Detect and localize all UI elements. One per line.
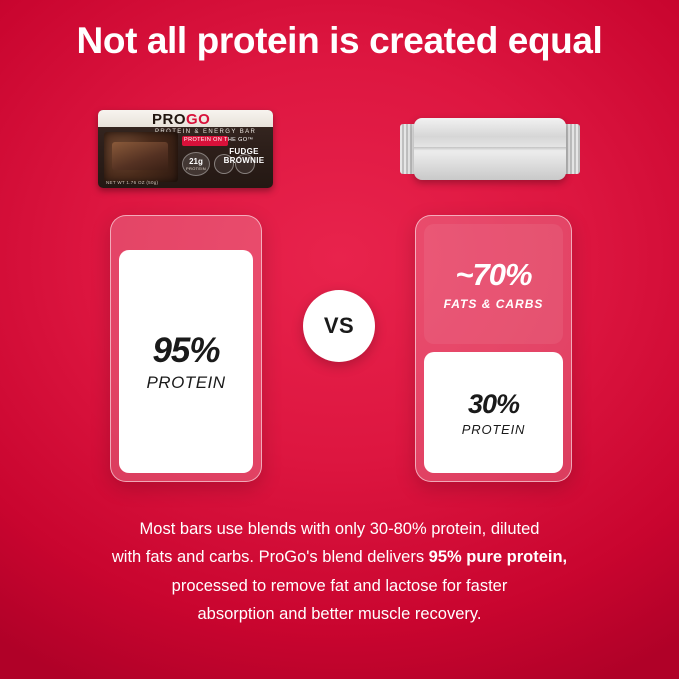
brand-pro: PRO: [152, 111, 186, 128]
protein-fill-bar: 95% PROTEIN: [119, 250, 253, 473]
other-fats-carbs-percent: ~70%: [455, 257, 531, 293]
page-title: Not all protein is created equal: [0, 20, 679, 63]
other-protein-percent: 30%: [468, 389, 519, 420]
comparison-card-other: ~70% FATS & CARBS 30% PROTEIN: [415, 215, 572, 482]
wrapper-seam: [414, 147, 566, 151]
comparison-card-progo: 95% PROTEIN: [110, 215, 262, 482]
bar-food-photo: [104, 132, 178, 182]
progo-protein-label: PROTEIN: [146, 373, 225, 393]
protein-amount-value: 21g: [183, 157, 209, 166]
bar-net-weight: NET WT 1.76 OZ (50g): [106, 180, 158, 185]
progo-bar-image: PROGO PROTEIN & ENERGY BAR PROTEIN ON TH…: [98, 110, 273, 188]
copy-line-2-bold: 95% pure protein,: [429, 548, 567, 566]
copy-line-1: Most bars use blends with only 30-80% pr…: [140, 520, 540, 538]
generic-bar-image: [400, 110, 580, 190]
copy-line-2-pre: with fats and carbs. ProGo's blend deliv…: [112, 548, 429, 566]
protein-amount-badge: 21g PROTEIN: [182, 152, 210, 176]
bar-body: PROGO PROTEIN & ENERGY BAR PROTEIN ON TH…: [98, 110, 273, 188]
other-protein-label: PROTEIN: [462, 422, 525, 437]
vs-badge: VS: [303, 290, 375, 362]
wrapper-body: [414, 118, 566, 180]
body-copy: Most bars use blends with only 30-80% pr…: [60, 515, 619, 629]
copy-line-3: processed to remove fat and lactose for …: [172, 577, 508, 595]
bar-tagline: PROTEIN ON THE GO™: [184, 137, 253, 143]
promo-poster: Not all protein is created equal PROGO P…: [0, 0, 679, 679]
other-fats-carbs-label: FATS & CARBS: [444, 297, 544, 311]
other-fats-carbs-segment: ~70% FATS & CARBS: [424, 224, 563, 344]
protein-amount-label: PROTEIN: [183, 166, 209, 171]
other-protein-segment: 30% PROTEIN: [424, 352, 563, 473]
bar-flavor-label: FUDGE BROWNIE: [222, 147, 266, 165]
progo-protein-percent: 95%: [152, 331, 219, 371]
brand-go: GO: [186, 111, 210, 128]
copy-line-4: absorption and better muscle recovery.: [197, 605, 481, 623]
brand-logo: PROGO: [152, 111, 210, 128]
